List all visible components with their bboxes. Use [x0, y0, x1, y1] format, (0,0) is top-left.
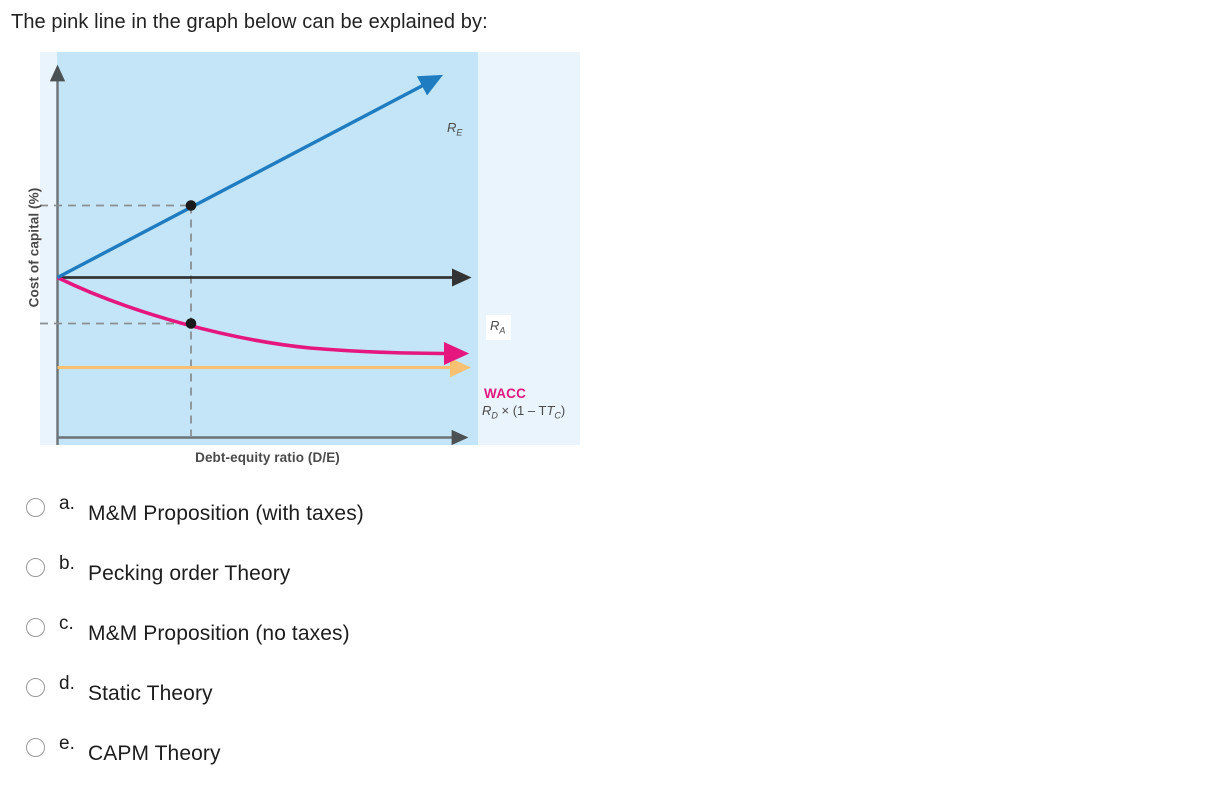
- series-label-rd-after-tax: RD × (1 – TTC): [482, 403, 565, 421]
- option-row-d[interactable]: d. Static Theory: [0, 664, 760, 724]
- option-letter-a: a.: [59, 493, 75, 515]
- option-letter-d: d.: [59, 673, 75, 695]
- option-row-b[interactable]: b. Pecking order Theory: [0, 544, 760, 604]
- option-text-c[interactable]: M&M Proposition (no taxes): [88, 622, 350, 646]
- x-axis-title: Debt-equity ratio (D/E): [57, 450, 478, 465]
- option-letter-e: e.: [59, 733, 75, 755]
- marker-dot-re: [186, 200, 197, 211]
- ra-symbol: R: [490, 318, 499, 333]
- re-subscript: E: [456, 128, 462, 138]
- option-text-e[interactable]: CAPM Theory: [88, 742, 221, 766]
- radio-option-c[interactable]: [26, 618, 45, 637]
- series-label-wacc: WACC: [484, 386, 526, 401]
- option-row-c[interactable]: c. M&M Proposition (no taxes): [0, 604, 760, 664]
- series-label-ra: RA: [486, 315, 511, 340]
- re-symbol: R: [447, 120, 456, 135]
- option-row-a[interactable]: a. M&M Proposition (with taxes): [0, 484, 760, 544]
- option-letter-c: c.: [59, 613, 74, 635]
- answer-options-list: a. M&M Proposition (with taxes) b. Pecki…: [0, 484, 760, 784]
- question-prompt: The pink line in the graph below can be …: [11, 9, 488, 35]
- option-row-e[interactable]: e. CAPM Theory: [0, 724, 760, 784]
- re-line: [58, 78, 438, 278]
- option-text-a[interactable]: M&M Proposition (with taxes): [88, 502, 364, 526]
- series-label-re: RE: [447, 120, 462, 138]
- option-text-d[interactable]: Static Theory: [88, 682, 213, 706]
- wacc-curve: [58, 278, 463, 354]
- marker-dot-wacc: [186, 318, 197, 329]
- radio-option-b[interactable]: [26, 558, 45, 577]
- cost-of-capital-figure: Cost of capital (%) Debt-equity ratio (D…: [0, 45, 600, 480]
- y-axis-title: Cost of capital (%): [27, 168, 42, 328]
- radio-option-a[interactable]: [26, 498, 45, 517]
- radio-option-d[interactable]: [26, 678, 45, 697]
- rd-symbol: R: [482, 403, 491, 418]
- ra-subscript: A: [499, 326, 505, 336]
- radio-option-e[interactable]: [26, 738, 45, 757]
- option-letter-b: b.: [59, 553, 75, 575]
- option-text-b[interactable]: Pecking order Theory: [88, 562, 290, 586]
- rd-expression: × (1 – T: [498, 403, 547, 418]
- rd-close-paren: ): [561, 403, 565, 418]
